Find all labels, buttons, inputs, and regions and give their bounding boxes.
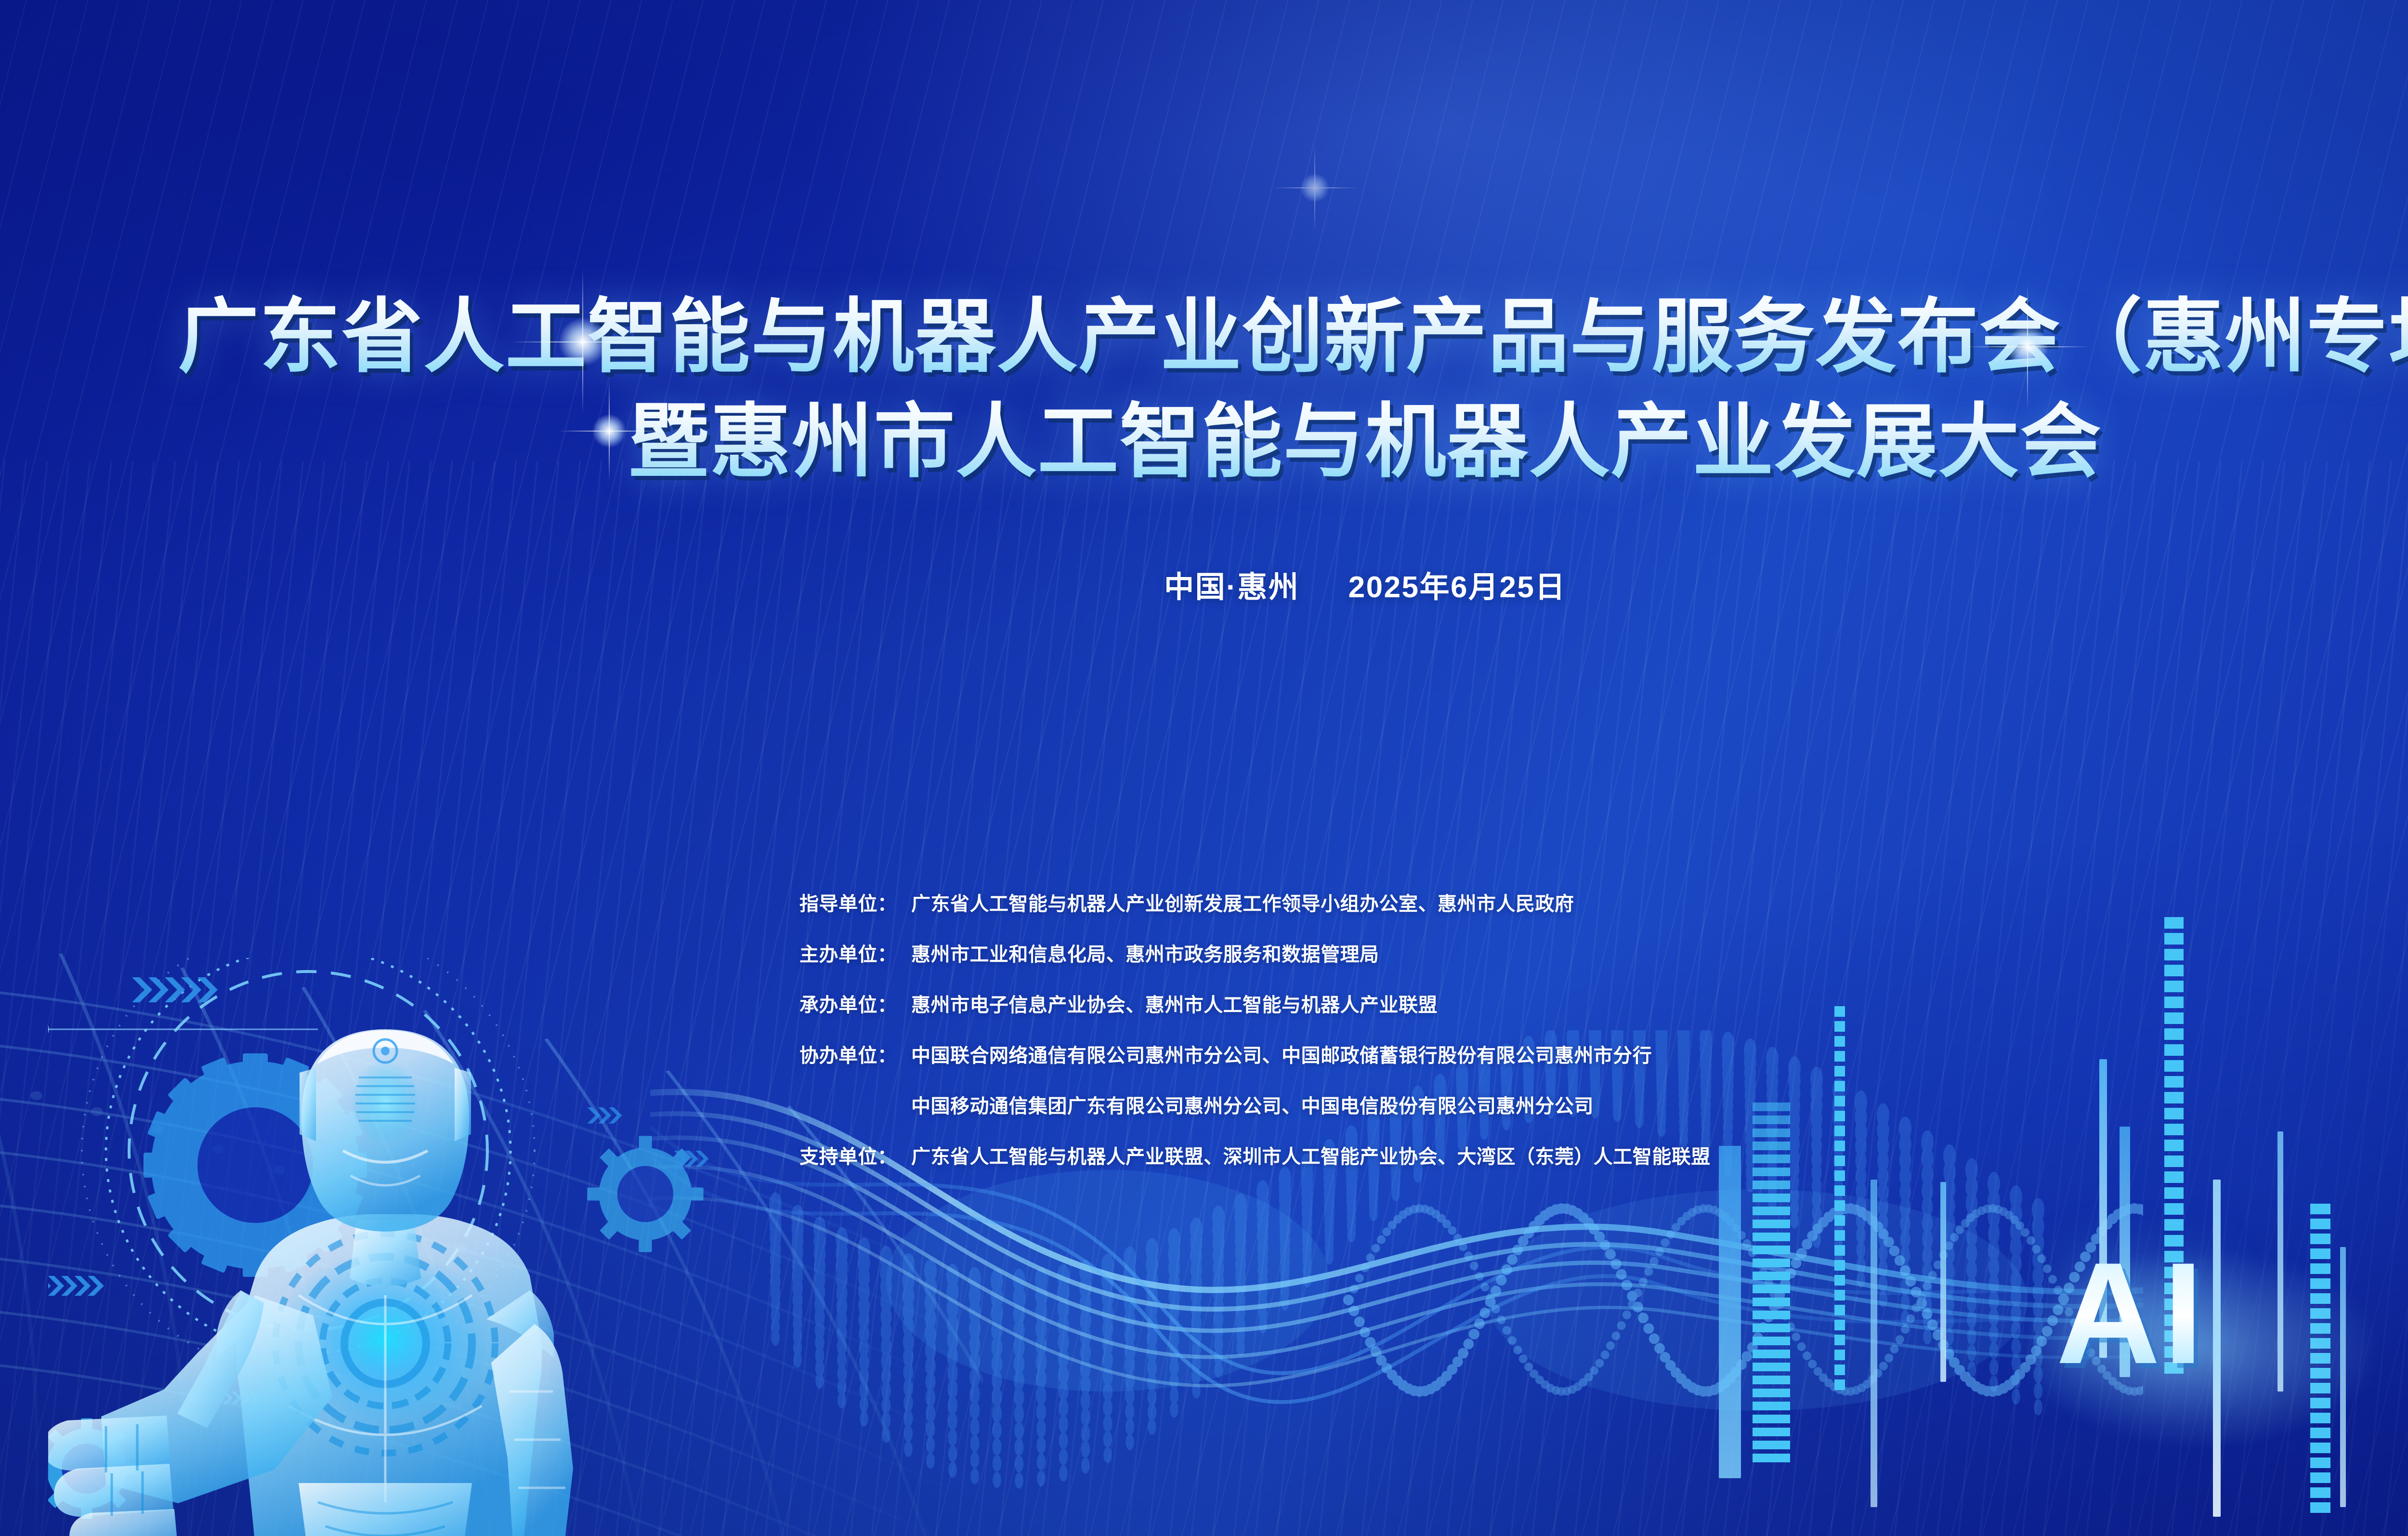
gear-icon-right xyxy=(587,1136,703,1252)
event-datetime-row: 中国·惠州 2025年6月25日 xyxy=(0,563,2408,606)
organizer-label: 承办单位： xyxy=(799,980,911,1031)
event-location: 中国·惠州 xyxy=(1164,571,1299,604)
organizer-label: 指导单位： xyxy=(799,879,911,930)
organizer-value: 中国联合网络通信有限公司惠州市分公司、中国邮政储蓄银行股份有限公司惠州市分行 xyxy=(911,1031,1652,1081)
organizer-value: 惠州市工业和信息化局、惠州市政务服务和数据管理局 xyxy=(911,930,1379,980)
organizer-label: 主办单位： xyxy=(799,930,911,980)
organizer-value: 广东省人工智能与机器人产业创新发展工作领导小组办公室、惠州市人民政府 xyxy=(911,879,1574,930)
page-title-line-1: 广东省人工智能与机器人产业创新产品与服务发布会（惠州专场） xyxy=(0,284,2408,389)
organizer-list: 指导单位：广东省人工智能与机器人产业创新发展工作领导小组办公室、惠州市人民政府主… xyxy=(799,879,1711,1182)
organizer-row: 协办单位：中国联合网络通信有限公司惠州市分公司、中国邮政储蓄银行股份有限公司惠州… xyxy=(799,1031,1711,1081)
organizer-label: 协办单位： xyxy=(799,1031,911,1081)
page-title-line-2: 暨惠州市人工智能与机器人产业发展大会 xyxy=(0,389,2408,494)
organizer-row: 协办单位：中国移动通信集团广东有限公司惠州分公司、中国电信股份有限公司惠州分公司 xyxy=(799,1081,1711,1132)
organizer-row: 承办单位：惠州市电子信息产业协会、惠州市人工智能与机器人产业联盟 xyxy=(799,980,1711,1031)
vertical-bar xyxy=(1940,1182,1946,1382)
poster-canvas: AI 广东省人工智能与机器人产业创新产品与服务发布会（惠州专场） 暨惠州市人工智… xyxy=(0,0,2408,1536)
organizer-value: 惠州市电子信息产业协会、惠州市人工智能与机器人产业联盟 xyxy=(911,980,1438,1031)
equalizer-bars-icon xyxy=(1753,1103,1790,1536)
robot-illustration xyxy=(48,958,722,1536)
organizer-row: 支持单位：广东省人工智能与机器人产业联盟、深圳市人工智能产业协会、大湾区（东莞）… xyxy=(799,1132,1711,1182)
vertical-bar xyxy=(1719,1146,1741,1478)
organizer-label: 支持单位： xyxy=(799,1132,911,1182)
equalizer-bars-icon-2 xyxy=(1834,1006,1845,1396)
title-block: 广东省人工智能与机器人产业创新产品与服务发布会（惠州专场） 暨惠州市人工智能与机… xyxy=(0,284,2408,495)
organizer-value: 中国移动通信集团广东有限公司惠州分公司、中国电信股份有限公司惠州分公司 xyxy=(911,1081,1594,1132)
ai-badge-zone: AI xyxy=(1719,886,2408,1536)
organizer-value: 广东省人工智能与机器人产业联盟、深圳市人工智能产业协会、大湾区（东莞）人工智能联… xyxy=(911,1132,1711,1182)
organizer-row: 主办单位：惠州市工业和信息化局、惠州市政务服务和数据管理局 xyxy=(799,930,1711,980)
event-date: 2025年6月25日 xyxy=(1348,571,1566,604)
organizer-row: 指导单位：广东省人工智能与机器人产业创新发展工作领导小组办公室、惠州市人民政府 xyxy=(799,879,1711,930)
vertical-bar xyxy=(1871,1180,1877,1507)
ai-badge: AI xyxy=(2056,1230,2206,1396)
